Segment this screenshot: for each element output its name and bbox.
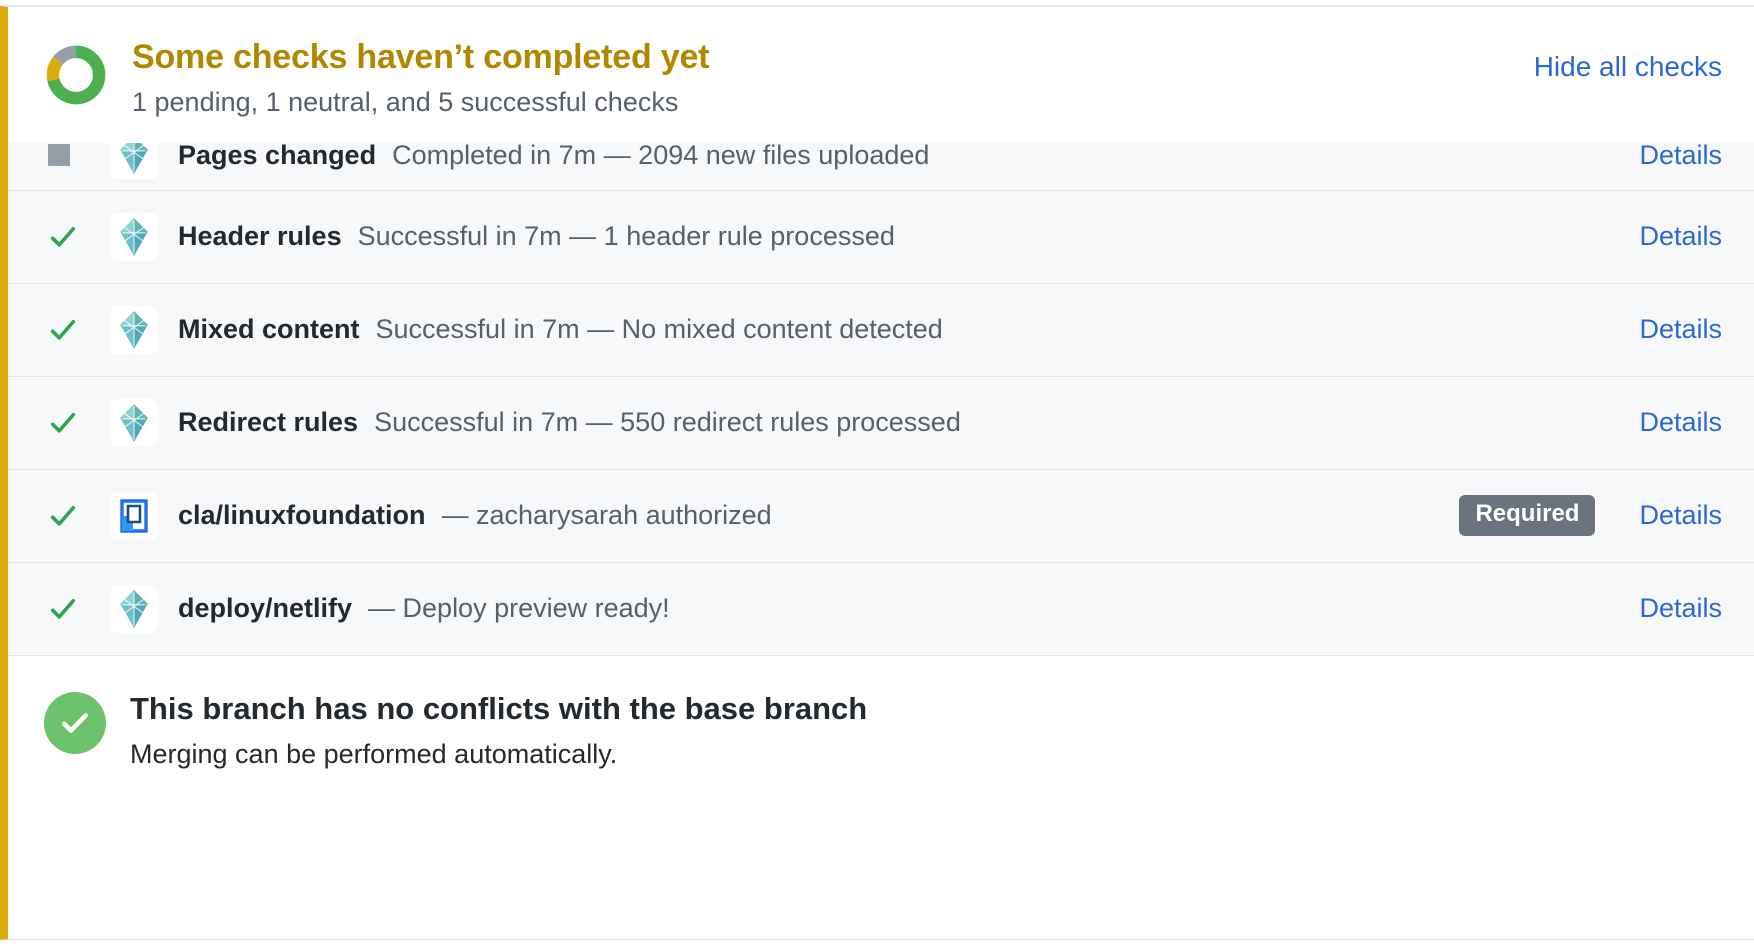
check-description: Successful in 7m — 550 redirect rules pr… <box>374 407 1617 438</box>
netlify-icon <box>110 585 158 633</box>
check-row[interactable]: Redirect rules Successful in 7m — 550 re… <box>8 377 1754 470</box>
check-success-icon <box>48 594 78 624</box>
check-details-link[interactable]: Details <box>1617 500 1722 531</box>
merge-status-text: This branch has no conflicts with the ba… <box>130 690 867 772</box>
check-success-icon <box>48 408 78 438</box>
hide-all-checks-link[interactable]: Hide all checks <box>1534 51 1722 83</box>
netlify-icon <box>110 213 158 261</box>
check-description: — zacharysarah authorized <box>442 500 1460 531</box>
check-success-icon <box>48 501 78 531</box>
check-status <box>48 408 110 438</box>
check-name: Header rules <box>178 221 342 252</box>
check-success-icon <box>48 315 78 345</box>
check-row[interactable]: Header rules Successful in 7m — 1 header… <box>8 191 1754 284</box>
merge-box: Some checks haven’t completed yet 1 pend… <box>0 6 1754 940</box>
check-row[interactable]: Mixed content Successful in 7m — No mixe… <box>8 284 1754 377</box>
check-details-link[interactable]: Details <box>1617 140 1722 171</box>
merge-conflict-status: This branch has no conflicts with the ba… <box>8 656 1754 939</box>
check-row[interactable]: cla/linuxfoundation — zacharysarah autho… <box>8 470 1754 563</box>
check-name: Redirect rules <box>178 407 358 438</box>
check-details-link[interactable]: Details <box>1617 593 1722 624</box>
check-name: Mixed content <box>178 314 360 345</box>
check-details-link[interactable]: Details <box>1617 407 1722 438</box>
pr-merge-status-panel: Some checks haven’t completed yet 1 pend… <box>0 0 1754 946</box>
check-status <box>48 222 110 252</box>
linuxfoundation-icon <box>110 492 158 540</box>
check-name: Pages changed <box>178 140 376 171</box>
check-status <box>48 144 110 166</box>
check-description: Successful in 7m — 1 header rule process… <box>358 221 1618 252</box>
check-success-icon <box>48 222 78 252</box>
check-row[interactable]: deploy/netlify — Deploy preview ready! D… <box>8 563 1754 656</box>
merge-status-title: This branch has no conflicts with the ba… <box>130 690 867 727</box>
netlify-icon <box>110 399 158 447</box>
checks-summary-subtitle: 1 pending, 1 neutral, and 5 successful c… <box>132 84 1720 120</box>
check-description: — Deploy preview ready! <box>368 593 1617 624</box>
checks-progress-donut-icon <box>44 43 108 107</box>
check-description: Completed in 7m — 2094 new files uploade… <box>392 140 1617 171</box>
merge-status-subtitle: Merging can be performed automatically. <box>130 737 867 772</box>
check-status <box>48 315 110 345</box>
check-circle-icon <box>44 692 106 754</box>
netlify-icon <box>110 306 158 354</box>
required-badge: Required <box>1459 495 1595 535</box>
check-name: cla/linuxfoundation <box>178 500 426 531</box>
check-status <box>48 501 110 531</box>
neutral-square-icon <box>48 144 70 166</box>
checks-summary-title: Some checks haven’t completed yet <box>132 37 1720 77</box>
checks-list: Pages changed Completed in 7m — 2094 new… <box>8 143 1754 656</box>
check-status <box>48 594 110 624</box>
checks-summary-text: Some checks haven’t completed yet 1 pend… <box>132 37 1720 121</box>
check-description: Successful in 7m — No mixed content dete… <box>376 314 1618 345</box>
check-details-link[interactable]: Details <box>1617 221 1722 252</box>
checks-summary-header: Some checks haven’t completed yet 1 pend… <box>8 7 1754 143</box>
check-details-link[interactable]: Details <box>1617 314 1722 345</box>
check-name: deploy/netlify <box>178 593 352 624</box>
